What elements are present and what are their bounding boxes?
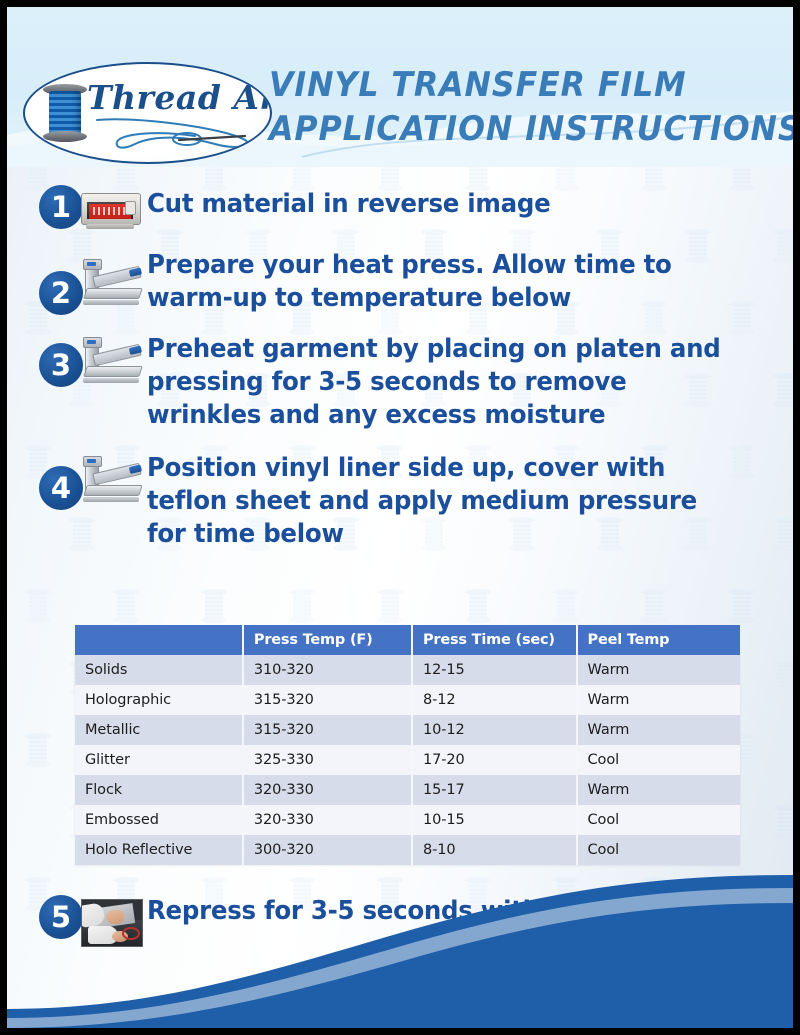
- cell-peel-temp: Warm: [577, 775, 740, 805]
- cell-material: Solids: [75, 655, 243, 685]
- thread-spool-watermark-icon: [773, 805, 793, 839]
- step-5: 5 Repress for 3-5 seconds with teflon sh…: [7, 895, 793, 945]
- thread-spool-watermark-icon: [25, 733, 51, 767]
- cell-press-temp: 300-320: [243, 835, 412, 865]
- cell-peel-temp: Cool: [577, 745, 740, 775]
- cell-peel-temp: Warm: [577, 685, 740, 715]
- table-header-row: Press Temp (F) Press Time (sec) Peel Tem…: [75, 625, 740, 655]
- cell-press-temp: 315-320: [243, 715, 412, 745]
- table-row: Holo Reflective300-3208-10Cool: [75, 835, 740, 865]
- title-line-1: VINYL TRANSFER FILM: [269, 63, 743, 107]
- cell-press-time: 10-15: [412, 805, 577, 835]
- cell-peel-temp: Warm: [577, 655, 740, 685]
- cell-peel-temp: Cool: [577, 835, 740, 865]
- instruction-sheet: Thread Art VINYL TRANSFER FILM APPLICATI…: [0, 0, 800, 1035]
- instruction-steps-continued: 5 Repress for 3-5 seconds with teflon sh…: [7, 895, 793, 951]
- needle-thread-icon: [95, 114, 260, 154]
- cell-press-time: 8-12: [412, 685, 577, 715]
- sheet-background: Thread Art VINYL TRANSFER FILM APPLICATI…: [7, 7, 793, 1028]
- heat-press-icon: [77, 454, 143, 502]
- step-text: Cut material in reverse image: [147, 188, 767, 221]
- cell-material: Embossed: [75, 805, 243, 835]
- step-text: Repress for 3-5 seconds with teflon shee…: [147, 895, 767, 928]
- cell-peel-temp: Cool: [577, 805, 740, 835]
- cell-material: Holo Reflective: [75, 835, 243, 865]
- heat-press-icon: [77, 335, 143, 383]
- cell-press-temp: 320-330: [243, 805, 412, 835]
- thread-spool-icon: [43, 84, 87, 142]
- column-header-material: [75, 625, 243, 655]
- cell-material: Holographic: [75, 685, 243, 715]
- thread-spool-watermark-icon: [201, 589, 227, 623]
- step-3: 3 Preheat garment by placing on platen a…: [7, 333, 793, 432]
- column-header-press-temp: Press Temp (F): [243, 625, 412, 655]
- thread-spool-watermark-icon: [113, 589, 139, 623]
- thread-spool-watermark-icon: [641, 589, 667, 623]
- thread-spool-watermark-icon: [553, 589, 579, 623]
- step-text: Prepare your heat press. Allow time to w…: [147, 249, 767, 315]
- table-row: Metallic315-32010-12Warm: [75, 715, 740, 745]
- step-text: Position vinyl liner side up, cover with…: [147, 452, 767, 551]
- table-row: Embossed320-33010-15Cool: [75, 805, 740, 835]
- thread-spool-watermark-icon: [289, 589, 315, 623]
- cell-press-temp: 315-320: [243, 685, 412, 715]
- title-line-2: APPLICATION INSTRUCTIONS: [269, 107, 743, 151]
- cell-material: Glitter: [75, 745, 243, 775]
- column-header-peel-temp: Peel Temp: [577, 625, 740, 655]
- cell-press-temp: 310-320: [243, 655, 412, 685]
- cell-peel-temp: Warm: [577, 715, 740, 745]
- teflon-sheet-repress-icon: [77, 897, 143, 945]
- cell-press-time: 10-12: [412, 715, 577, 745]
- cell-press-time: 17-20: [412, 745, 577, 775]
- cell-press-time: 8-10: [412, 835, 577, 865]
- cell-press-temp: 320-330: [243, 775, 412, 805]
- vinyl-cutter-icon: [77, 187, 143, 235]
- press-settings-table: Press Temp (F) Press Time (sec) Peel Tem…: [75, 625, 740, 865]
- page-title: VINYL TRANSFER FILM APPLICATION INSTRUCT…: [269, 63, 779, 151]
- cell-press-time: 12-15: [412, 655, 577, 685]
- thread-spool-watermark-icon: [729, 589, 755, 623]
- cell-material: Flock: [75, 775, 243, 805]
- table-row: Glitter325-33017-20Cool: [75, 745, 740, 775]
- brand-name: Thread Art: [87, 78, 272, 117]
- thread-spool-watermark-icon: [25, 589, 51, 623]
- thread-spool-watermark-icon: [773, 661, 793, 695]
- table-row: Holographic315-3208-12Warm: [75, 685, 740, 715]
- cell-material: Metallic: [75, 715, 243, 745]
- table-row: Flock320-33015-17Warm: [75, 775, 740, 805]
- step-4: 4 Position vinyl liner side up, cover wi…: [7, 452, 793, 551]
- heat-press-icon: [77, 257, 143, 305]
- brand-logo: Thread Art: [23, 62, 272, 164]
- cell-press-temp: 325-330: [243, 745, 412, 775]
- instruction-steps: 1 Cut material in reverse image 2: [7, 185, 793, 557]
- page-header: Thread Art VINYL TRANSFER FILM APPLICATI…: [7, 7, 793, 167]
- table-row: Solids310-32012-15Warm: [75, 655, 740, 685]
- step-1: 1 Cut material in reverse image: [7, 185, 793, 235]
- step-text: Preheat garment by placing on platen and…: [147, 333, 767, 432]
- column-header-press-time: Press Time (sec): [412, 625, 577, 655]
- thread-spool-watermark-icon: [465, 589, 491, 623]
- cell-press-time: 15-17: [412, 775, 577, 805]
- step-2: 2 Prepare your heat press. Allow time to…: [7, 249, 793, 315]
- thread-spool-watermark-icon: [377, 589, 403, 623]
